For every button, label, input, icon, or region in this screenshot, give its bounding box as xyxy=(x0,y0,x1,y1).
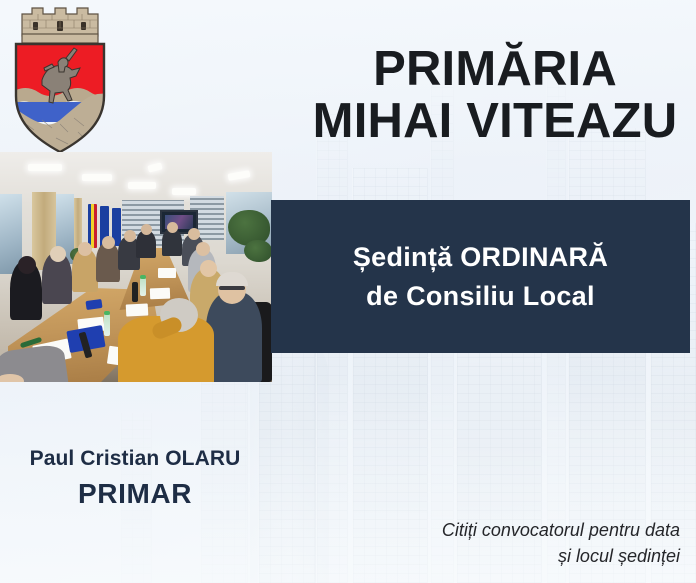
meeting-banner: Ședință ORDINARĂ de Consiliu Local xyxy=(271,200,690,353)
coat-of-arms-icon xyxy=(8,6,112,154)
background-tower xyxy=(568,128,646,583)
page-title: PRIMĂRIA MIHAI VITEAZU xyxy=(300,44,690,148)
council-meeting-photo xyxy=(0,152,272,382)
footer-note: Citiți convocatorul pentru data și locul… xyxy=(330,517,680,569)
title-line-mihai-viteazu: MIHAI VITEAZU xyxy=(300,96,690,148)
poster-canvas: PRIMĂRIA MIHAI VITEAZU xyxy=(0,0,696,583)
mayor-role: PRIMAR xyxy=(6,478,264,510)
footer-note-line-2: și locul ședinței xyxy=(330,543,680,569)
footer-note-line-1: Citiți convocatorul pentru data xyxy=(330,517,680,543)
banner-line-sedinta-ordinara: Ședință ORDINARĂ xyxy=(353,238,608,276)
meeting-banner-text: Ședință ORDINARĂ de Consiliu Local xyxy=(353,238,608,315)
mayor-name: Paul Cristian OLARU xyxy=(6,447,264,471)
mayor-block: Paul Cristian OLARU PRIMAR xyxy=(6,447,264,510)
title-line-primaria: PRIMĂRIA xyxy=(300,44,690,96)
banner-line-consiliu-local: de Consiliu Local xyxy=(353,277,608,315)
